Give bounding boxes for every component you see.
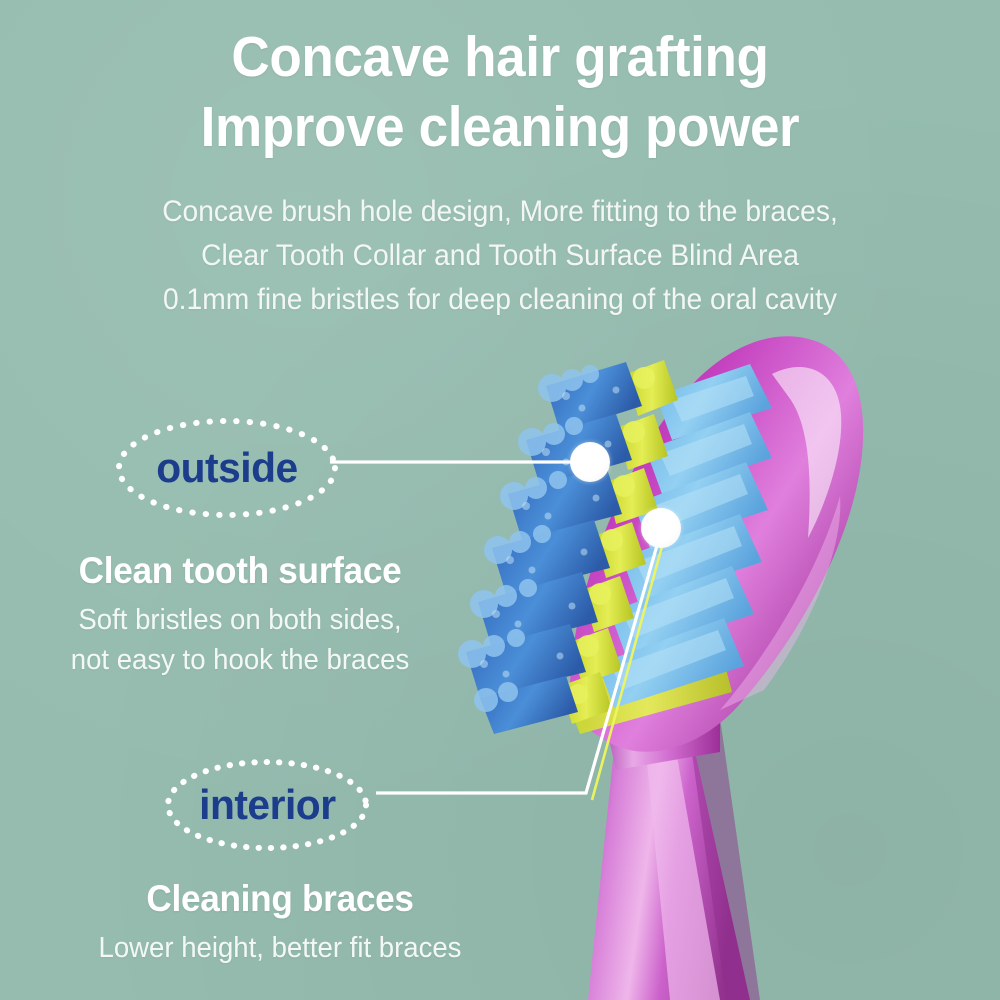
feature-2-title: Cleaning braces <box>52 876 508 922</box>
callout-outside[interactable]: outside <box>114 416 340 520</box>
feature-1-body-line-1: Soft bristles on both sides, <box>22 600 459 640</box>
feature-2-body: Lower height, better fit braces <box>52 928 508 968</box>
hotspot-dot-interior[interactable] <box>641 508 681 548</box>
subtitle-line-1: Concave brush hole design, More fitting … <box>30 190 970 234</box>
feature-1-body: Soft bristles on both sides, not easy to… <box>22 600 459 680</box>
title-line-1: Concave hair grafting <box>35 22 965 92</box>
callout-interior[interactable]: interior <box>163 757 371 853</box>
feature-clean-tooth-surface: Clean tooth surface Soft bristles on bot… <box>10 548 470 680</box>
callout-outside-label: outside <box>156 444 297 492</box>
feature-cleaning-braces: Cleaning braces Lower height, better fit… <box>40 876 520 968</box>
subtitle-line-2: Clear Tooth Collar and Tooth Surface Bli… <box>30 234 970 278</box>
page-title: Concave hair grafting Improve cleaning p… <box>35 22 965 162</box>
feature-1-title: Clean tooth surface <box>22 548 459 594</box>
title-line-2: Improve cleaning power <box>35 92 965 162</box>
feature-2-body-line-1: Lower height, better fit braces <box>52 928 508 968</box>
feature-1-body-line-2: not easy to hook the braces <box>22 640 459 680</box>
hotspot-dot-outside[interactable] <box>570 442 610 482</box>
callout-interior-label: interior <box>199 781 335 829</box>
leader-line-outside <box>330 440 600 490</box>
product-infographic: Concave hair grafting Improve cleaning p… <box>0 0 1000 1000</box>
